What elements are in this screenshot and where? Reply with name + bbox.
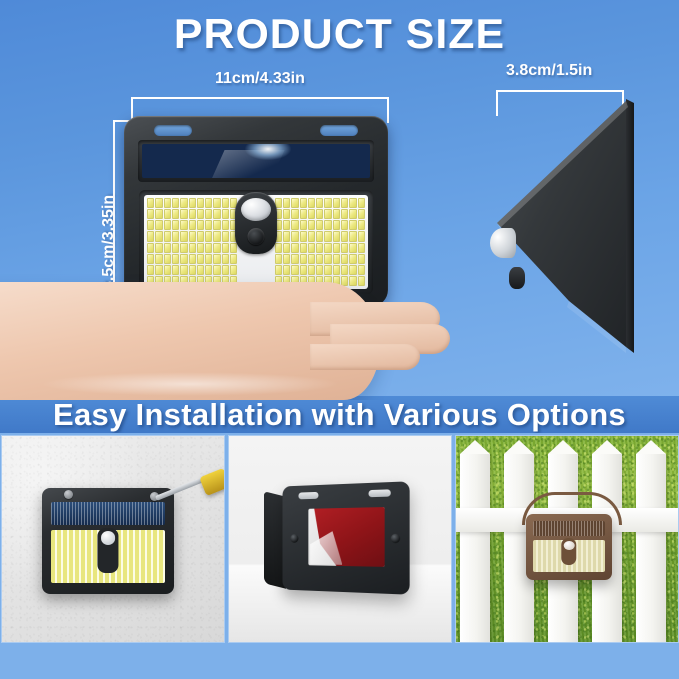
led-chip [230,254,237,264]
led-chip [316,231,323,241]
led-chip [291,243,298,253]
solar-panel-frame [138,140,374,182]
led-chip [205,243,212,253]
led-chip [155,254,162,264]
solar-panel [51,502,165,525]
dimension-line-width [131,97,389,99]
led-chip [213,198,220,208]
led-chip [300,243,307,253]
led-chip [349,243,356,253]
led-chip [349,198,356,208]
led-chip [172,231,179,241]
led-chip [147,198,154,208]
led-chip [316,276,323,286]
solar-light-front-view [124,116,388,306]
led-chip [172,220,179,230]
page-title: PRODUCT SIZE [0,10,679,58]
led-chip [316,265,323,275]
led-array-left [144,195,240,289]
led-chip [205,220,212,230]
led-chip [333,276,340,286]
solar-panel [142,144,370,178]
led-chip [341,243,348,253]
led-chip [213,209,220,219]
led-chip [197,254,204,264]
led-chip [213,231,220,241]
led-chip [189,254,196,264]
led-chip [333,209,340,219]
led-chip [316,254,323,264]
led-chip [147,209,154,219]
led-chip [164,231,171,241]
hand-highlight [40,372,340,396]
led-chip [197,209,204,219]
led-chip [333,254,340,264]
led-chip [180,231,187,241]
led-chip [147,220,154,230]
led-chip [213,254,220,264]
led-chip [222,220,229,230]
screw-hole-left [290,534,298,543]
led-chip [324,209,331,219]
led-chip [300,231,307,241]
led-chip [230,276,237,286]
dimension-label-height: 8.5cm/3.35in [100,195,118,290]
led-chip [341,220,348,230]
hanging-solar-light [526,514,612,580]
led-chip [308,231,315,241]
led-chip [283,198,290,208]
led-chip [308,209,315,219]
pir-motion-sensor-icon [101,531,116,544]
led-chip [172,198,179,208]
led-chip [147,276,154,286]
led-chip [213,220,220,230]
led-chip [172,276,179,286]
led-chip [164,254,171,264]
led-chip [164,265,171,275]
led-chip [341,265,348,275]
led-chip [155,243,162,253]
pir-sensor-side-icon [490,228,516,258]
led-chip [197,198,204,208]
led-chip [358,220,365,230]
led-chip [341,198,348,208]
led-chip [147,254,154,264]
led-chip [291,254,298,264]
led-chip [333,265,340,275]
led-chip [349,265,356,275]
led-chip [283,276,290,286]
fence-picket [636,454,666,642]
dimension-line-height [113,120,115,293]
led-chip [213,243,220,253]
led-chip [189,198,196,208]
led-chip [358,209,365,219]
installation-image-adhesive [228,435,452,643]
led-chip [324,231,331,241]
mounting-tab-right [368,489,390,497]
led-chip [349,209,356,219]
led-chip [205,209,212,219]
led-chip [164,243,171,253]
led-chip [197,265,204,275]
led-chip [341,276,348,286]
led-chip [180,209,187,219]
led-chip [222,265,229,275]
led-chip [275,254,282,264]
led-chip [164,198,171,208]
solar-panel [533,521,605,537]
led-chip [316,198,323,208]
led-chip [324,220,331,230]
led-chip [324,198,331,208]
led-chip [155,231,162,241]
led-chip [230,265,237,275]
led-chip [316,220,323,230]
screw-left [64,490,73,499]
fence-picket [460,454,490,642]
led-chip [333,231,340,241]
led-chip [155,276,162,286]
finger [310,302,440,336]
led-chip [189,220,196,230]
mounted-solar-light [42,488,174,594]
led-chip [180,265,187,275]
led-chip [333,198,340,208]
mounting-tab-right [320,125,358,136]
screw-hole-right [391,533,400,542]
led-chip [324,265,331,275]
led-chip [164,220,171,230]
led-chip [155,198,162,208]
product-size-section: PRODUCT SIZE 11cm/4.33in 8.5cm/3.35in 3.… [0,0,679,400]
led-chip [180,276,187,286]
finger [330,324,450,354]
led-chip [358,243,365,253]
sensor-hub [235,192,277,254]
led-chip [205,231,212,241]
led-chip [213,265,220,275]
product-infographic: PRODUCT SIZE 11cm/4.33in 8.5cm/3.35in 3.… [0,0,679,679]
led-chip [291,276,298,286]
led-chip [189,243,196,253]
product-back-plate [282,481,409,594]
led-chip [205,254,212,264]
led-chip [189,265,196,275]
led-chip [308,198,315,208]
led-chip [341,254,348,264]
led-chip [172,243,179,253]
led-chip [358,198,365,208]
pir-motion-sensor-icon [563,541,574,550]
led-chip [324,243,331,253]
power-button[interactable] [248,228,265,245]
adhesive-area [308,507,384,567]
led-chip [155,209,162,219]
led-chip [300,254,307,264]
led-chip [172,254,179,264]
solar-panel-glare [245,144,291,160]
led-chip [147,243,154,253]
led-chip [300,198,307,208]
led-chip [275,276,282,286]
led-chip [205,276,212,286]
led-chip [308,276,315,286]
led-chip [308,220,315,230]
led-chip [222,254,229,264]
led-chip [172,265,179,275]
led-chip [358,231,365,241]
led-chip [283,243,290,253]
mounting-tab-left [298,492,318,499]
led-chip [308,243,315,253]
led-chip [283,254,290,264]
led-chip [189,209,196,219]
led-chip [358,276,365,286]
led-chip [275,265,282,275]
installation-banner: Easy Installation with Various Options [0,396,679,433]
led-chip [341,209,348,219]
installation-image-screw-mounting [1,435,225,643]
led-chip [308,254,315,264]
led-chip [291,231,298,241]
led-chip [197,231,204,241]
led-chip [205,265,212,275]
dimension-label-depth: 3.8cm/1.5in [506,62,592,80]
led-chip [333,220,340,230]
led-chip [349,220,356,230]
solar-light-side-view [487,95,647,365]
led-chip [180,254,187,264]
led-chip [222,198,229,208]
led-chip [180,220,187,230]
pir-motion-sensor-icon [241,198,271,221]
led-chip [324,276,331,286]
led-chip [155,220,162,230]
led-chip [316,209,323,219]
led-chip [349,231,356,241]
led-chip [283,209,290,219]
installation-options: ①Screw Mounting ②Double-sided Adhesive ③… [0,433,679,679]
led-chip [341,231,348,241]
led-chip [189,231,196,241]
led-chip [147,231,154,241]
led-chip [222,231,229,241]
led-chip [300,265,307,275]
led-chip [324,254,331,264]
led-chip [333,243,340,253]
led-array-right [272,195,368,289]
sensor-hub [561,538,576,566]
dimension-line-depth [496,90,624,92]
led-chip [213,276,220,286]
led-chip [316,243,323,253]
led-chip [300,220,307,230]
led-chip [164,276,171,286]
led-chip [197,243,204,253]
finger [310,344,420,370]
mounting-tab-left [154,125,192,136]
led-chip [291,265,298,275]
led-chip [180,243,187,253]
led-chip [300,276,307,286]
led-chip [283,220,290,230]
led-chip [275,243,282,253]
led-chip [291,209,298,219]
led-chip [291,220,298,230]
led-chip [164,209,171,219]
led-chip [155,265,162,275]
led-chip [349,276,356,286]
led-chip [180,198,187,208]
led-chip [189,276,196,286]
led-chip [358,265,365,275]
led-chip [172,209,179,219]
led-chip [283,231,290,241]
sensor-hub [97,528,118,573]
led-chip [222,276,229,286]
led-chip [197,276,204,286]
dimension-label-width: 11cm/4.33in [215,70,305,88]
led-chip [147,265,154,275]
led-chip [349,254,356,264]
led-chip [308,265,315,275]
led-chip [358,254,365,264]
led-chip [205,198,212,208]
installation-image-rope-hanging [455,435,679,643]
led-chip [197,220,204,230]
led-chip [283,265,290,275]
led-chip [300,209,307,219]
led-chip [222,209,229,219]
led-chip [291,198,298,208]
banner-title: Easy Installation with Various Options [53,397,626,433]
led-chip [222,243,229,253]
